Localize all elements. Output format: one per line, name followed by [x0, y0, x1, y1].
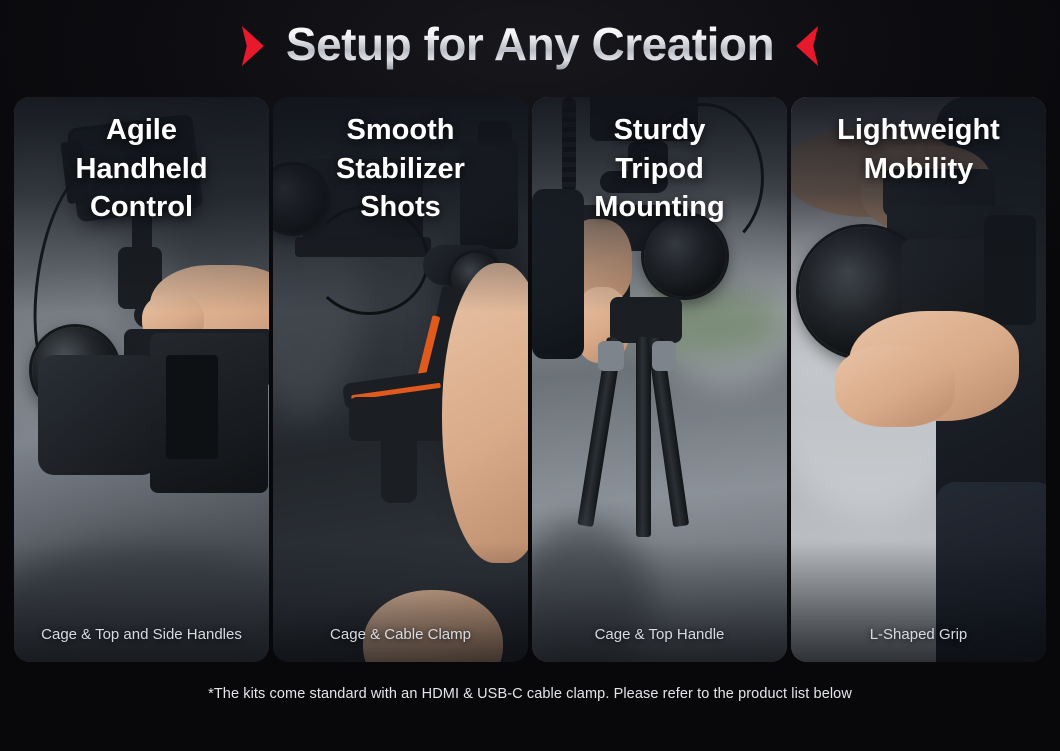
triangle-left-icon	[796, 26, 818, 66]
feature-card-agile-handheld-control[interactable]: Agile Handheld Control Cage & Top and Si…	[14, 97, 269, 662]
footnote-text: *The kits come standard with an HDMI & U…	[0, 686, 1060, 702]
feature-card-smooth-stabilizer-shots[interactable]: Smooth Stabilizer Shots Cage & Cable Cla…	[273, 97, 528, 662]
promo-banner: Setup for Any Creation	[0, 0, 1060, 751]
card-caption: Cage & Top Handle	[532, 626, 787, 643]
feature-card-row: Agile Handheld Control Cage & Top and Si…	[14, 97, 1046, 662]
feature-card-sturdy-tripod-mounting[interactable]: Sturdy Tripod Mounting Cage & Top Handle	[532, 97, 787, 662]
feature-card-lightweight-mobility[interactable]: Lightweight Mobility L-Shaped Grip	[791, 97, 1046, 662]
card-caption: L-Shaped Grip	[791, 626, 1046, 643]
triangle-right-icon	[242, 26, 264, 66]
card-title: Smooth Stabilizer Shots	[273, 111, 528, 227]
banner-header: Setup for Any Creation	[0, 0, 1060, 92]
card-title: Sturdy Tripod Mounting	[532, 111, 787, 227]
card-title: Lightweight Mobility	[791, 111, 1046, 188]
card-caption: Cage & Cable Clamp	[273, 626, 528, 643]
card-title: Agile Handheld Control	[14, 111, 269, 227]
page-title: Setup for Any Creation	[286, 21, 774, 71]
card-caption: Cage & Top and Side Handles	[14, 626, 269, 643]
